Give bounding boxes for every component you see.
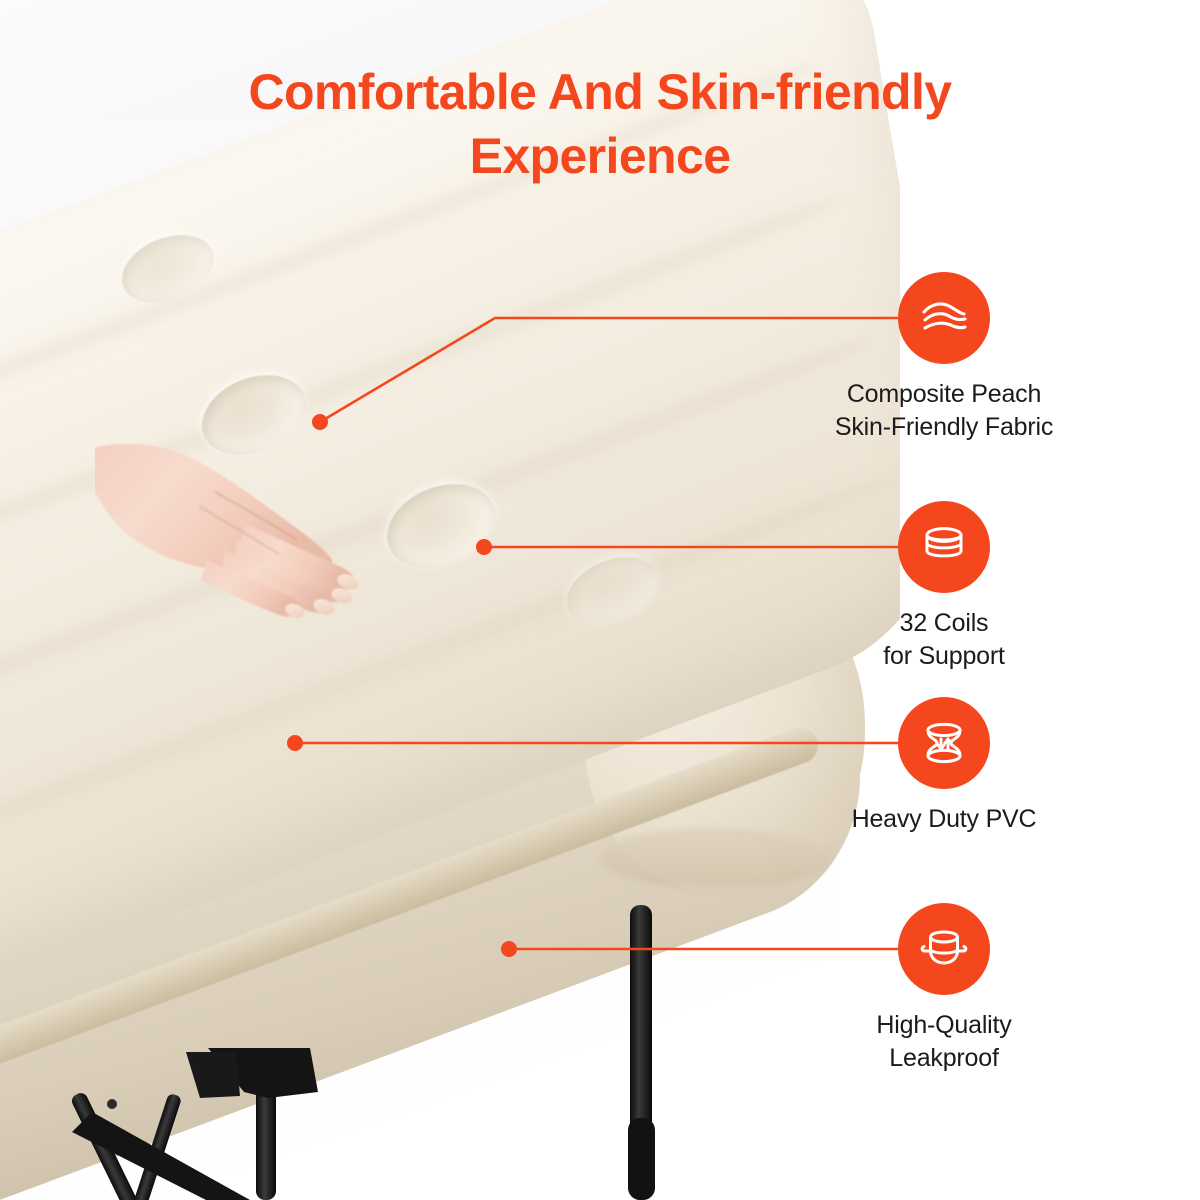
- feature-coils-label: 32 Coils for Support: [814, 607, 1074, 673]
- feature-fabric-label: Composite Peach Skin-Friendly Fabric: [814, 378, 1074, 444]
- title-line-1: Comfortable And Skin-friendly: [0, 60, 1200, 124]
- infographic-canvas: Comfortable And Skin-friendly Experience…: [0, 0, 1200, 1200]
- feature-coils[interactable]: 32 Coils for Support: [814, 501, 1074, 673]
- feature-fabric[interactable]: Composite Peach Skin-Friendly Fabric: [814, 272, 1074, 444]
- page-title: Comfortable And Skin-friendly Experience: [0, 60, 1200, 188]
- feature-pvc[interactable]: Heavy Duty PVC: [814, 697, 1074, 836]
- feature-leakproof-label: High-Quality Leakproof: [814, 1009, 1074, 1075]
- hand-fabric-wave-icon: [898, 272, 990, 364]
- title-line-2: Experience: [0, 124, 1200, 188]
- pvc-spool-icon: [898, 697, 990, 789]
- feature-pvc-label: Heavy Duty PVC: [814, 803, 1074, 836]
- leakproof-seal-icon: [898, 903, 990, 995]
- feature-leakproof[interactable]: High-Quality Leakproof: [814, 903, 1074, 1075]
- stacked-coils-icon: [898, 501, 990, 593]
